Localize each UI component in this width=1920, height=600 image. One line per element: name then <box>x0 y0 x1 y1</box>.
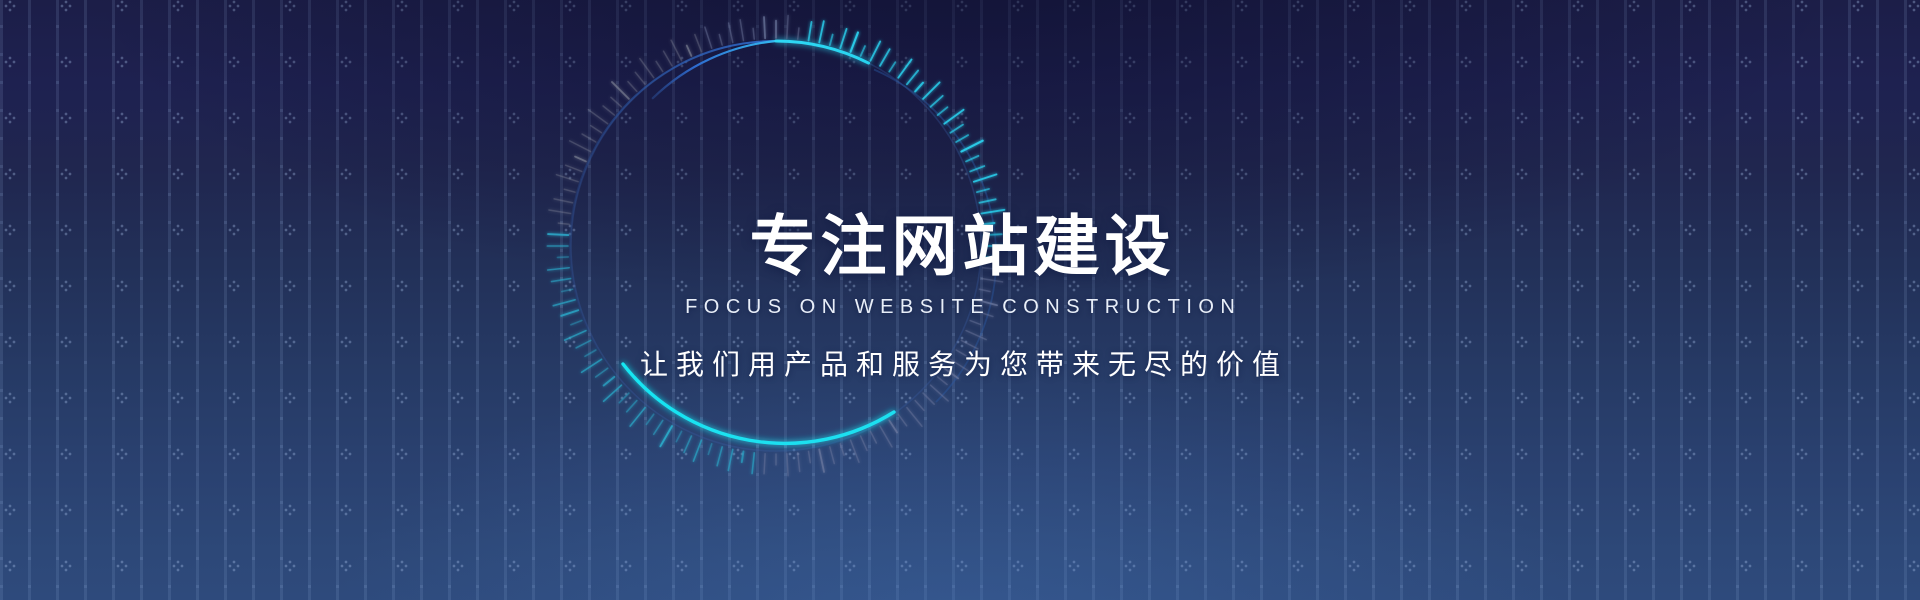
banner-subtitle-chinese: 让我们用产品和服务为您带来无尽的价值 <box>632 343 1288 383</box>
banner-title: 专注网站建设 <box>745 214 1176 280</box>
banner-content: 专注网站建设 FOCUS ON WEBSITE CONSTRUCTION 让我们… <box>0 0 1920 600</box>
hero-banner: 专注网站建设 FOCUS ON WEBSITE CONSTRUCTION 让我们… <box>0 0 1920 600</box>
banner-subtitle-english: FOCUS ON WEBSITE CONSTRUCTION <box>679 296 1242 319</box>
